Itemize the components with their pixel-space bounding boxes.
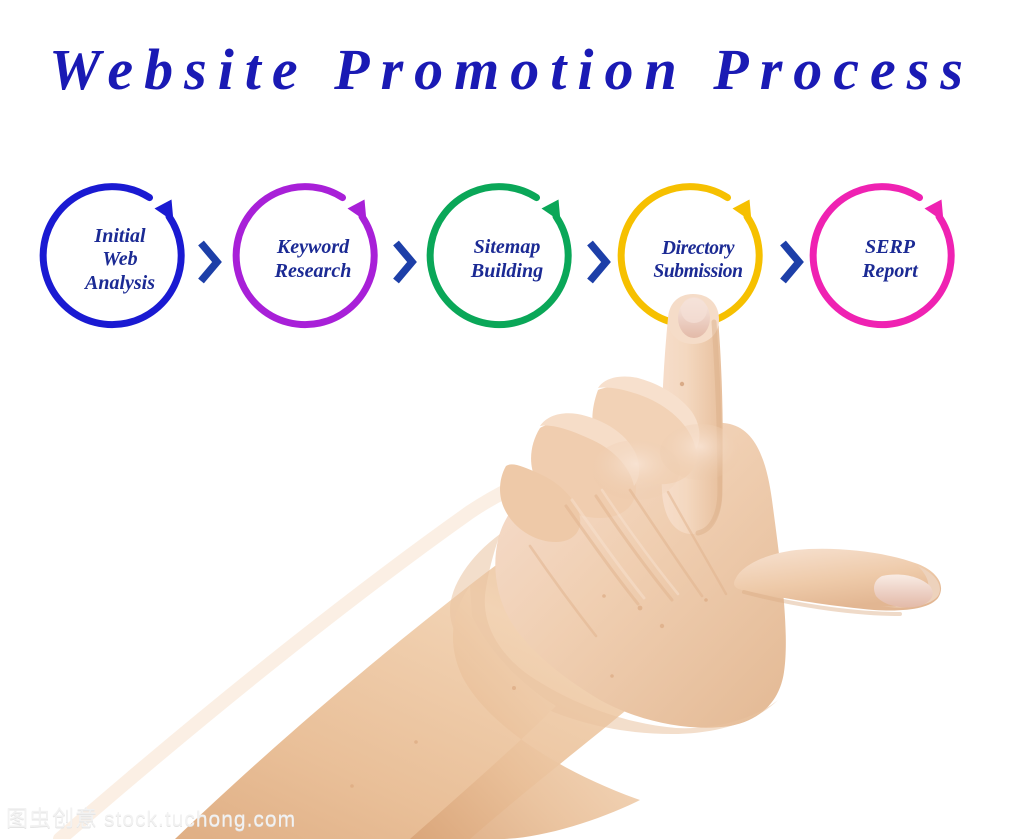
watermark-cn-text: 图虫创意 xyxy=(6,806,98,831)
diagram-canvas: Website Promotion Process Initial Web An… xyxy=(0,0,1023,839)
watermark-url-text: stock.tuchong.com xyxy=(104,808,296,831)
label-line: Analysis xyxy=(85,272,155,296)
chevron-right-icon xyxy=(391,239,417,285)
label-line: Research xyxy=(275,260,352,284)
label-line: Building xyxy=(471,260,543,284)
chevron-right-icon xyxy=(196,239,222,285)
process-step-2-label: Keyword Research xyxy=(240,185,386,335)
label-line: Submission xyxy=(653,260,742,283)
watermark: 图虫创意stock.tuchong.com xyxy=(6,801,296,833)
label-line: Sitemap xyxy=(474,236,541,260)
label-line: Report xyxy=(862,260,918,284)
label-line: Directory xyxy=(662,237,734,260)
label-line: Web xyxy=(102,248,137,272)
chevron-right-icon xyxy=(778,239,804,285)
label-line: SERP xyxy=(865,236,915,260)
label-line: Keyword xyxy=(277,236,349,260)
process-step-3-label: Sitemap Building xyxy=(434,185,580,335)
process-step-4-label: Directory Submission xyxy=(625,185,771,335)
process-step-5-label: SERP Report xyxy=(817,185,963,335)
process-step-1[interactable]: Initial Web Analysis xyxy=(45,185,195,335)
process-step-2[interactable]: Keyword Research xyxy=(238,185,388,335)
page-title: Website Promotion Process xyxy=(0,36,1023,103)
pointing-hand-photo xyxy=(0,0,1023,839)
process-step-5[interactable]: SERP Report xyxy=(815,185,965,335)
process-steps-row: Initial Web Analysis Keyword Research xyxy=(0,185,1023,345)
process-step-4[interactable]: Directory Submission xyxy=(623,185,773,335)
chevron-right-icon xyxy=(585,239,611,285)
process-step-3[interactable]: Sitemap Building xyxy=(432,185,582,335)
process-step-1-label: Initial Web Analysis xyxy=(47,185,193,335)
label-line: Initial xyxy=(94,225,145,249)
